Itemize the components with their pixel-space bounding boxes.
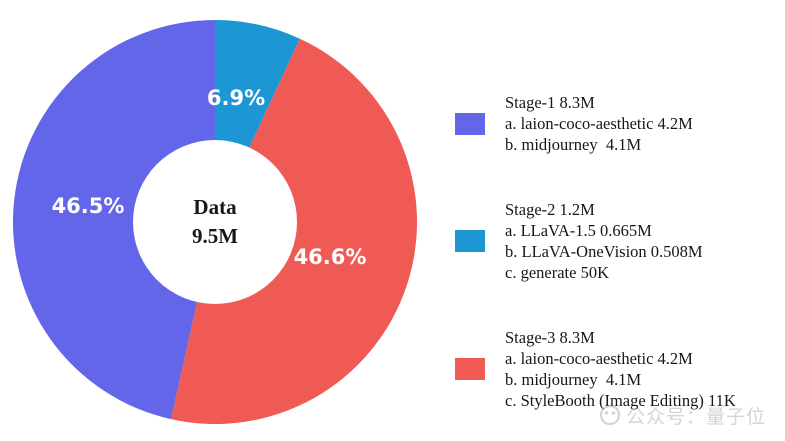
legend-line: b. midjourney 4.1M (505, 369, 736, 390)
legend-text-stage-1: Stage-1 8.3Ma. laion-coco-aesthetic 4.2M… (505, 92, 693, 155)
legend-swatch-stage-1 (455, 113, 485, 135)
slice-label-stage-3: 46.6% (294, 245, 367, 269)
center-label-title: Data (193, 195, 237, 219)
legend-item-stage-3[interactable]: Stage-3 8.3Ma. laion-coco-aesthetic 4.2M… (455, 327, 736, 411)
legend-line: c. generate 50K (505, 262, 703, 283)
slice-label-stage-1: 46.5% (52, 194, 125, 218)
legend-item-stage-1[interactable]: Stage-1 8.3Ma. laion-coco-aesthetic 4.2M… (455, 92, 693, 155)
legend-line: c. StyleBooth (Image Editing) 11K (505, 390, 736, 411)
legend-item-stage-2[interactable]: Stage-2 1.2Ma. LLaVA-1.5 0.665Mb. LLaVA-… (455, 199, 703, 283)
donut-svg: 6.9%46.6%46.5% Data 9.5M (0, 0, 440, 441)
legend-swatch-stage-2 (455, 230, 485, 252)
legend-swatch-stage-3 (455, 358, 485, 380)
legend-text-stage-3: Stage-3 8.3Ma. laion-coco-aesthetic 4.2M… (505, 327, 736, 411)
legend-line: Stage-3 8.3M (505, 327, 736, 348)
center-label-value: 9.5M (192, 224, 238, 248)
legend-line: b. midjourney 4.1M (505, 134, 693, 155)
legend-line: a. laion-coco-aesthetic 4.2M (505, 113, 693, 134)
slice-label-stage-2: 6.9% (207, 86, 265, 110)
donut-hole (133, 140, 297, 304)
donut-chart: 6.9%46.6%46.5% Data 9.5M (0, 0, 440, 441)
donut-chart-figure: 6.9%46.6%46.5% Data 9.5M Stage-1 8.3Ma. … (0, 0, 785, 441)
legend-line: a. laion-coco-aesthetic 4.2M (505, 348, 736, 369)
legend-line: Stage-2 1.2M (505, 199, 703, 220)
legend-line: a. LLaVA-1.5 0.665M (505, 220, 703, 241)
legend-line: Stage-1 8.3M (505, 92, 693, 113)
legend-line: b. LLaVA-OneVision 0.508M (505, 241, 703, 262)
legend-text-stage-2: Stage-2 1.2Ma. LLaVA-1.5 0.665Mb. LLaVA-… (505, 199, 703, 283)
chart-legend: Stage-1 8.3Ma. laion-coco-aesthetic 4.2M… (455, 0, 785, 441)
